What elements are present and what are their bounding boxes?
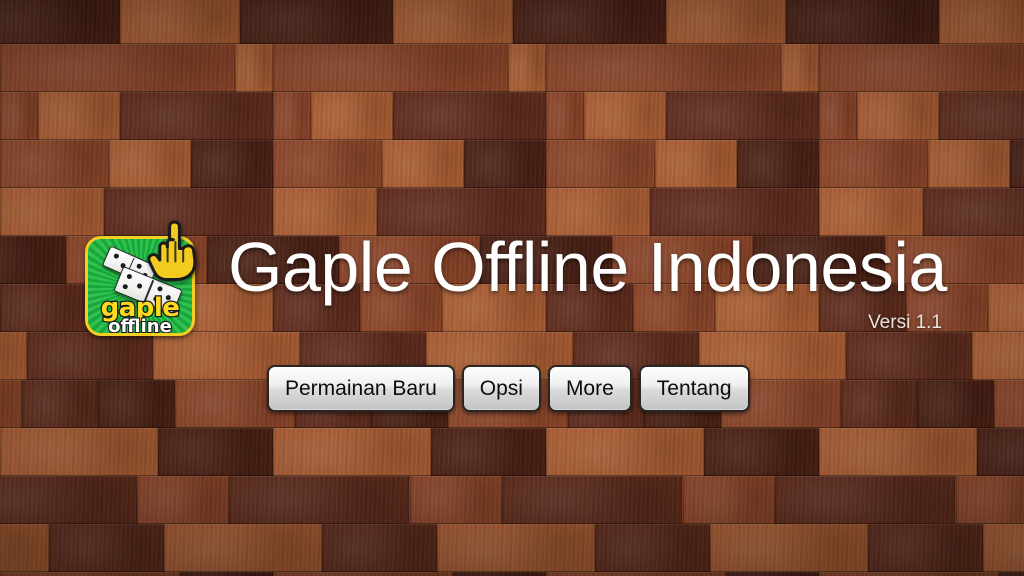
wood-plank: [437, 524, 595, 572]
wood-plank: [546, 572, 726, 576]
wood-plank: [595, 524, 710, 572]
wood-plank: [464, 140, 546, 188]
wood-plank: [846, 332, 972, 380]
wood-plank: [819, 572, 999, 576]
wood-plank: [191, 140, 273, 188]
wood-plank: [158, 428, 273, 476]
wood-plank: [322, 524, 437, 572]
wood-plank: [0, 140, 109, 188]
wood-plank: [994, 380, 1024, 428]
wood-plank: [311, 92, 393, 140]
wood-plank: [928, 140, 1010, 188]
title-block: Gaple Offline Indonesia Versi 1.1: [228, 232, 942, 334]
wood-plank: [737, 140, 819, 188]
wood-plank: [273, 44, 508, 92]
wood-plank: [453, 572, 546, 576]
wood-plank: [726, 572, 819, 576]
wood-plank: [956, 476, 1024, 524]
wood-plank: [939, 92, 1024, 140]
wood-plank: [0, 524, 49, 572]
menu-button-options[interactable]: Opsi: [462, 365, 541, 412]
wood-plank: [546, 140, 655, 188]
wood-plank: [0, 188, 104, 236]
app-logo: gaple offline: [85, 236, 195, 336]
wood-plank: [410, 476, 503, 524]
wood-plank: [502, 476, 682, 524]
wood-plank: [0, 572, 180, 576]
wood-plank: [546, 92, 584, 140]
main-menu-button-row: Permainan BaruOpsiMoreTentang: [267, 365, 750, 412]
wood-plank: [983, 524, 1024, 572]
wood-plank: [819, 92, 857, 140]
wood-plank: [0, 428, 158, 476]
wood-plank: [710, 524, 868, 572]
wood-plank: [273, 428, 431, 476]
wood-plank: [22, 380, 98, 428]
wood-plank: [841, 380, 917, 428]
wood-plank: [0, 476, 137, 524]
wood-plank: [38, 92, 120, 140]
wood-plank: [819, 140, 928, 188]
wood-plank: [0, 92, 38, 140]
domino-pip: [136, 283, 143, 290]
wood-plank: [546, 428, 704, 476]
wood-plank: [382, 140, 464, 188]
wood-plank: [819, 428, 977, 476]
domino-pip: [113, 253, 120, 260]
wood-plank: [273, 92, 311, 140]
wood-plank: [999, 572, 1024, 576]
wood-plank: [0, 44, 235, 92]
wood-plank: [0, 236, 66, 284]
domino-pip: [136, 263, 143, 270]
wood-plank: [120, 92, 273, 140]
wood-plank: [98, 380, 174, 428]
wood-plank: [704, 428, 819, 476]
wood-plank: [137, 476, 230, 524]
wood-plank: [917, 380, 993, 428]
wood-plank: [977, 428, 1024, 476]
wood-plank: [868, 524, 983, 572]
wood-plank: [273, 140, 382, 188]
wood-plank: [0, 380, 22, 428]
wood-plank: [273, 572, 453, 576]
version-label: Versi 1.1: [228, 312, 942, 334]
logo-word-secondary: offline: [88, 318, 192, 336]
wood-plank: [508, 44, 546, 92]
wood-plank: [229, 476, 409, 524]
domino-pip: [157, 286, 164, 293]
wood-plank: [666, 0, 786, 44]
wood-plank: [939, 0, 1024, 44]
wood-plank: [164, 524, 322, 572]
page-title: Gaple Offline Indonesia: [228, 232, 942, 302]
wood-plank: [0, 0, 120, 44]
wood-plank: [819, 44, 1024, 92]
game-main-menu-screen: gaple offline Gaple Offline Indonesia Ve…: [0, 0, 1024, 576]
wood-plank: [393, 92, 546, 140]
wood-plank: [513, 0, 666, 44]
domino-pip: [126, 273, 133, 280]
pointing-hand-icon: [145, 218, 203, 284]
wood-plank: [1010, 140, 1024, 188]
wood-plank: [666, 92, 819, 140]
wood-plank: [584, 92, 666, 140]
wood-plank: [109, 140, 191, 188]
wood-plank: [0, 284, 87, 332]
wood-plank: [240, 0, 393, 44]
menu-button-new-game[interactable]: Permainan Baru: [267, 365, 455, 412]
wood-plank: [0, 332, 27, 380]
wood-plank: [988, 284, 1024, 332]
wood-plank: [857, 92, 939, 140]
wood-plank: [180, 572, 273, 576]
menu-button-more[interactable]: More: [548, 365, 632, 412]
wood-plank: [775, 476, 955, 524]
wood-plank: [235, 44, 273, 92]
wood-plank: [546, 44, 781, 92]
wood-plank: [683, 476, 776, 524]
menu-button-about[interactable]: Tentang: [639, 365, 750, 412]
wood-plank: [431, 428, 546, 476]
wood-plank: [655, 140, 737, 188]
wood-plank: [972, 332, 1024, 380]
wood-plank: [786, 0, 939, 44]
wood-plank: [27, 332, 153, 380]
wood-plank: [781, 44, 819, 92]
wood-plank: [49, 524, 164, 572]
domino-pip: [122, 283, 129, 290]
wood-plank: [393, 0, 513, 44]
wood-plank: [120, 0, 240, 44]
